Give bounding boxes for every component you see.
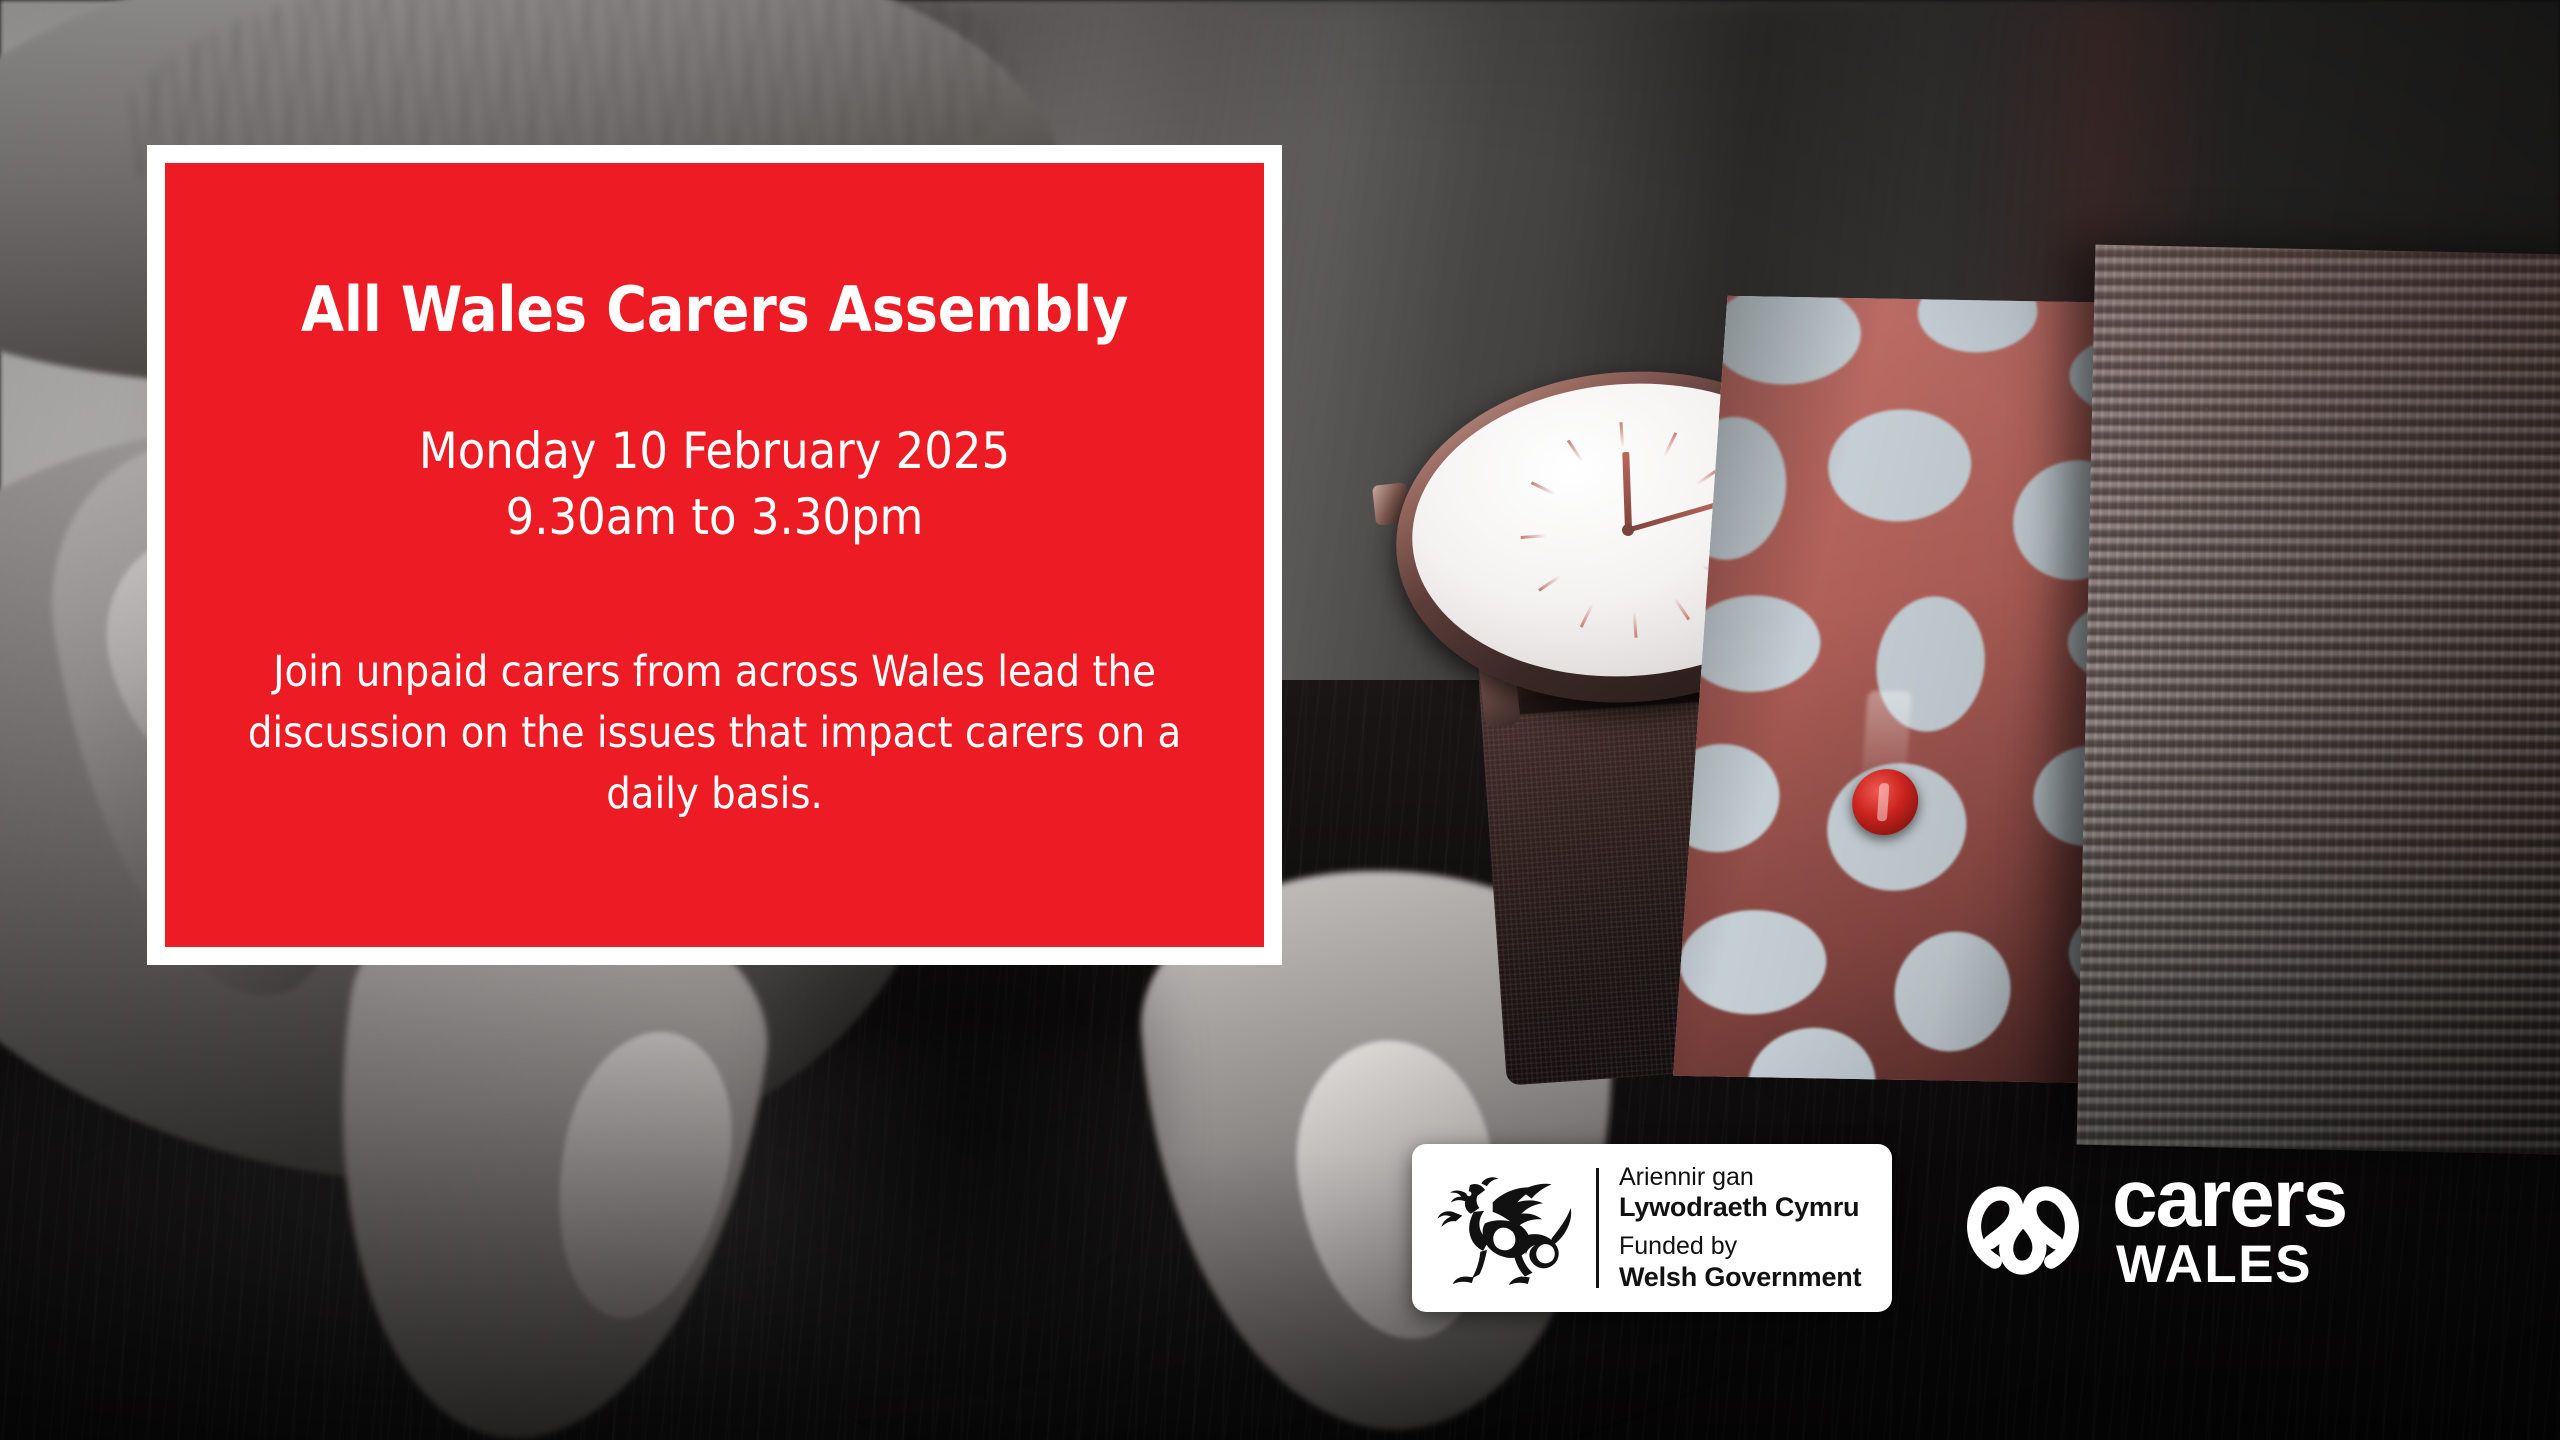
event-time: 9.30am to 3.30pm [419, 484, 1010, 550]
knitted-sweater-sleeve [2077, 245, 2560, 1156]
badge-spacer [1619, 1224, 1861, 1232]
poster-canvas: All Wales Carers Assembly Monday 10 Febr… [0, 0, 2560, 1440]
badge-welsh-prefix: Ariennir gan [1619, 1163, 1861, 1193]
event-datetime: Monday 10 February 2025 9.30am to 3.30pm [419, 344, 1010, 550]
watch-tick-6 [1627, 530, 1638, 638]
badge-english-prefix: Funded by [1619, 1232, 1861, 1262]
watch-tick-11 [1566, 440, 1629, 531]
badge-english-name: Welsh Government [1619, 1262, 1861, 1294]
badge-text-block: Ariennir gan Lywodraeth Cymru Funded by … [1619, 1163, 1861, 1294]
watch-tick-9 [1520, 529, 1628, 540]
badge-welsh-name: Lywodraeth Cymru [1619, 1192, 1861, 1224]
badge-divider [1596, 1168, 1599, 1288]
logo-word-wales: WALES [2112, 1237, 2346, 1293]
carers-wales-knot-icon [1958, 1162, 2088, 1292]
announcement-card-inner: All Wales Carers Assembly Monday 10 Febr… [165, 163, 1264, 947]
cuff-button-thread [1862, 691, 1912, 782]
sleeve-colour-cast [2077, 245, 2560, 1156]
logo-word-carers: carers [2112, 1161, 2346, 1236]
event-description: Join unpaid carers from across Wales lea… [211, 550, 1218, 825]
carers-wales-logo: carers WALES [1958, 1132, 2498, 1322]
event-date: Monday 10 February 2025 [419, 418, 1010, 484]
announcement-card: All Wales Carers Assembly Monday 10 Febr… [147, 145, 1282, 965]
knuckle-shadow [760, 930, 1180, 1410]
carers-wales-wordmark: carers WALES [2112, 1161, 2346, 1292]
page-title: All Wales Carers Assembly [301, 163, 1128, 344]
watch-hour-hand [1622, 452, 1632, 530]
welsh-dragon-icon [1430, 1166, 1582, 1290]
welsh-government-funding-badge: Ariennir gan Lywodraeth Cymru Funded by … [1412, 1144, 1892, 1312]
